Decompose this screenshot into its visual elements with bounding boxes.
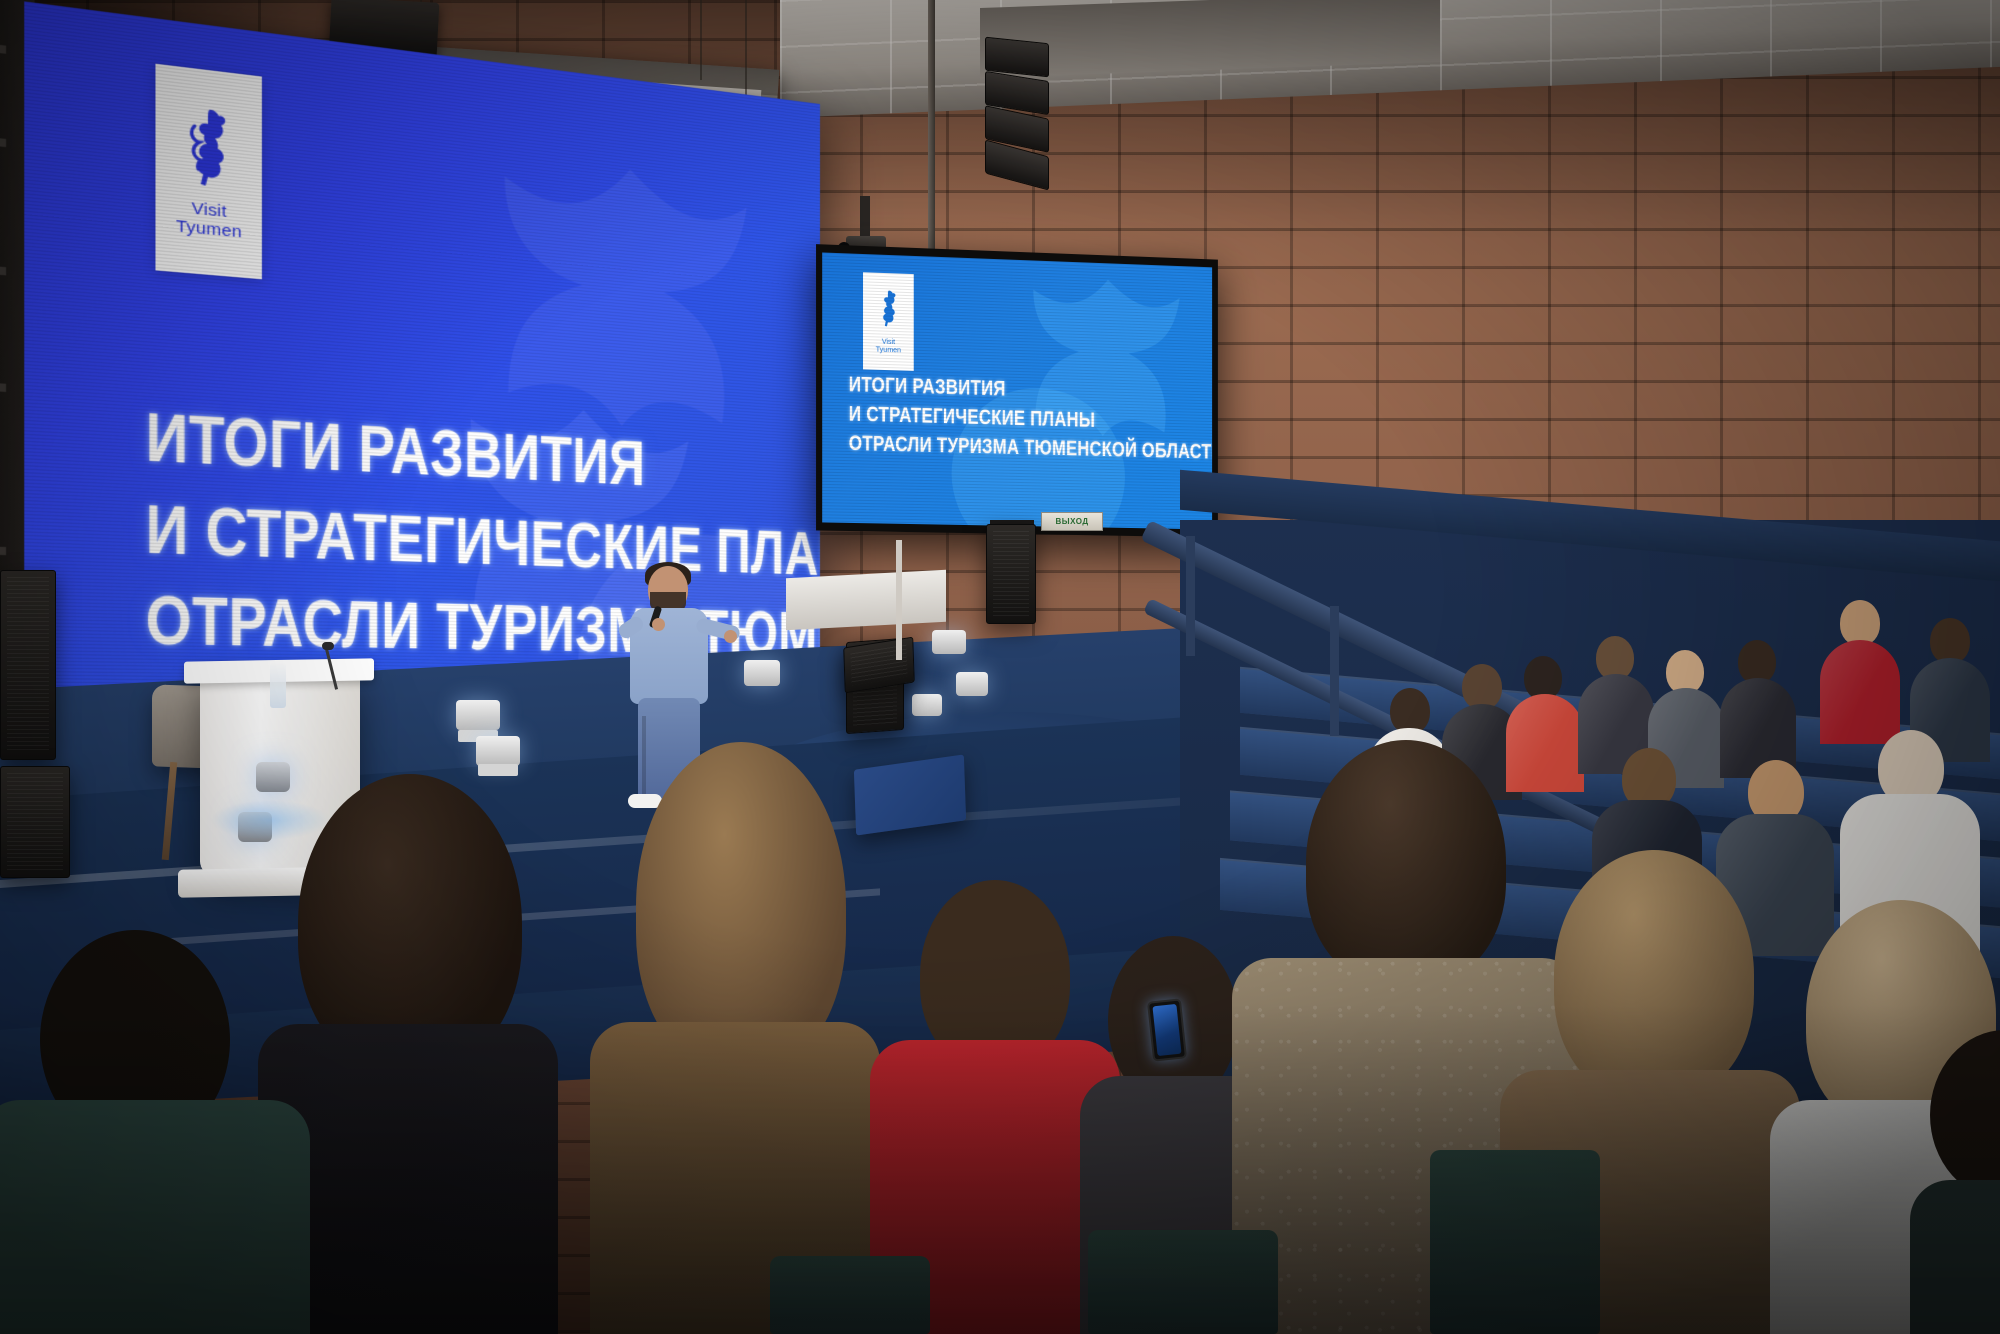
microphone-head-icon: [322, 642, 334, 650]
handrail-post: [1186, 536, 1195, 656]
audience-member: [1578, 636, 1654, 766]
exit-sign: ВЫХОД: [1041, 512, 1103, 531]
audience-body: [1910, 1180, 2000, 1334]
handrail-post: [1330, 606, 1339, 736]
audience-body: [1820, 640, 1900, 744]
audience-member: [1820, 600, 1900, 740]
stage-back-table: [786, 570, 946, 630]
side-fill-speaker: [0, 570, 56, 760]
presenter-hand-gesture: [724, 630, 737, 643]
audience-member-foreground: [1920, 1030, 2000, 1334]
smartphone-recording[interactable]: [1147, 998, 1187, 1061]
side-fill-speaker: [0, 766, 70, 878]
hanging-wire: [700, 0, 702, 80]
audience-member-foreground: [590, 742, 880, 1334]
stage-monitor-speaker: [986, 524, 1036, 624]
audience-head: [1554, 850, 1754, 1100]
logo-line-1-secondary: Visit: [882, 339, 895, 346]
moving-head-light: [956, 672, 988, 696]
audience-seat: [770, 1256, 930, 1334]
secondary-slide-surface: Visit Tyumen ИТОГИ РАЗВИТИЯ И СТРАТЕГИЧЕ…: [822, 252, 1212, 529]
moving-head-light: [456, 700, 500, 730]
audience-head: [1306, 740, 1506, 986]
visit-tyumen-logo-card-secondary: Visit Tyumen: [863, 272, 914, 371]
audience-member: [1720, 640, 1796, 770]
moving-head-light: [912, 694, 942, 716]
audience-body: [0, 1100, 310, 1334]
bear-icon: [181, 102, 237, 193]
audience-head: [1930, 1030, 2000, 1200]
secondary-headline-line-3: ОТРАСЛИ ТУРИЗМА ТЮМЕНСКОЙ ОБЛАСТИ: [849, 430, 1144, 466]
stage-pole-stand: [896, 540, 902, 660]
water-bottle: [270, 662, 286, 708]
moving-head-light: [476, 736, 520, 766]
audience-seat: [1430, 1150, 1600, 1334]
phone-screen: [1152, 1004, 1181, 1056]
logo-wordmark: Visit Tyumen: [176, 199, 242, 243]
visit-tyumen-logo-card: Visit Tyumen: [155, 64, 261, 280]
hanging-wire: [745, 0, 747, 96]
audience-member-foreground: [0, 930, 300, 1334]
moving-head-light: [932, 630, 966, 654]
secondary-slide-headline: ИТОГИ РАЗВИТИЯ И СТРАТЕГИЧЕСКИЕ ПЛАНЫ ОТ…: [849, 371, 1212, 467]
line-array-speaker: [985, 40, 1051, 190]
logo-line-2-secondary: Tyumen: [876, 346, 901, 354]
presenter-hand: [652, 618, 665, 631]
secondary-repeater-tv[interactable]: Visit Tyumen ИТОГИ РАЗВИТИЯ И СТРАТЕГИЧЕ…: [816, 244, 1218, 537]
moving-head-light: [744, 660, 780, 686]
audience-seat: [1088, 1230, 1278, 1334]
logo-line-2: Tyumen: [176, 217, 242, 242]
logo-wordmark-secondary: Visit Tyumen: [876, 339, 901, 355]
conference-hall-scene: Visit Tyumen ИТОГИ РАЗВИТИЯ И СТРАТЕГИЧЕ…: [0, 0, 2000, 1334]
bear-icon: [876, 288, 900, 334]
